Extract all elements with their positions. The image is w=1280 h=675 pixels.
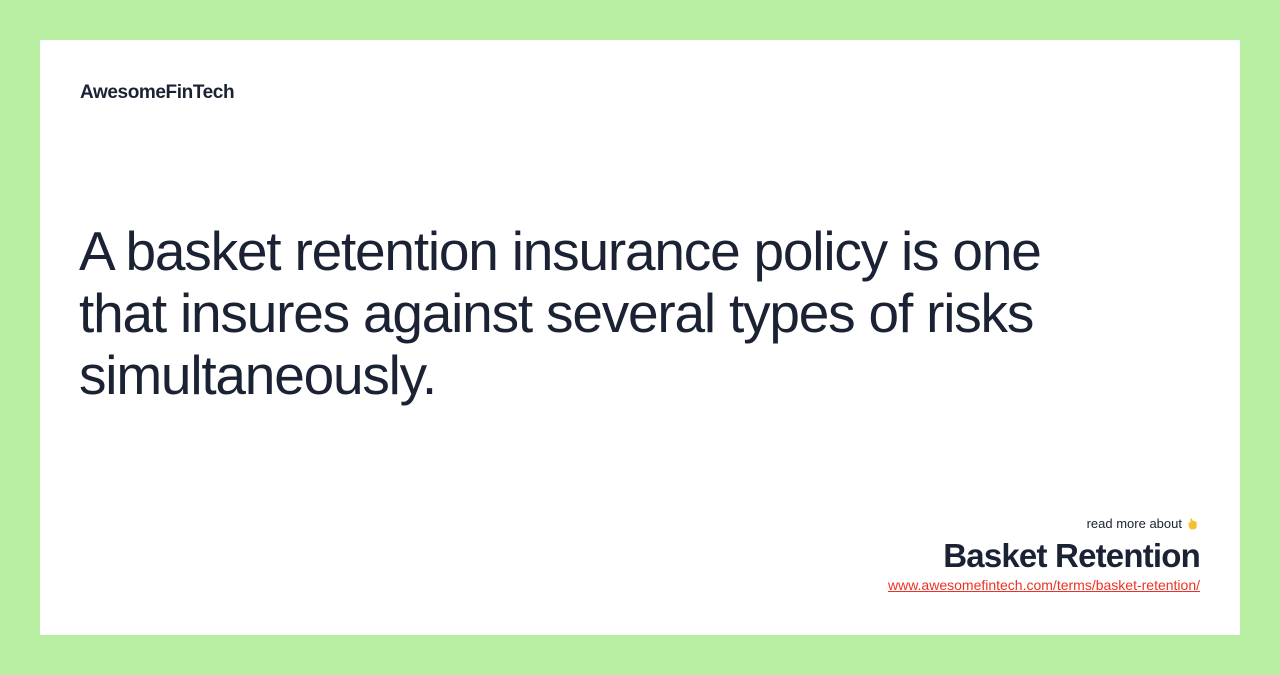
card-footer: read more about Basket Retention www.awe… (580, 516, 1200, 595)
page-background: AwesomeFinTech A basket retention insura… (0, 0, 1280, 675)
term-title: Basket Retention (580, 537, 1200, 575)
pointing-down-hand-icon (1186, 517, 1200, 535)
brand-logo-text: AwesomeFinTech (80, 82, 234, 104)
definition-headline: A basket retention insurance policy is o… (79, 220, 1139, 406)
term-url-link[interactable]: www.awesomefintech.com/terms/basket-rete… (888, 576, 1200, 594)
read-more-label: read more about (1087, 516, 1182, 531)
read-more-row: read more about (580, 516, 1200, 535)
definition-card: AwesomeFinTech A basket retention insura… (40, 40, 1240, 635)
